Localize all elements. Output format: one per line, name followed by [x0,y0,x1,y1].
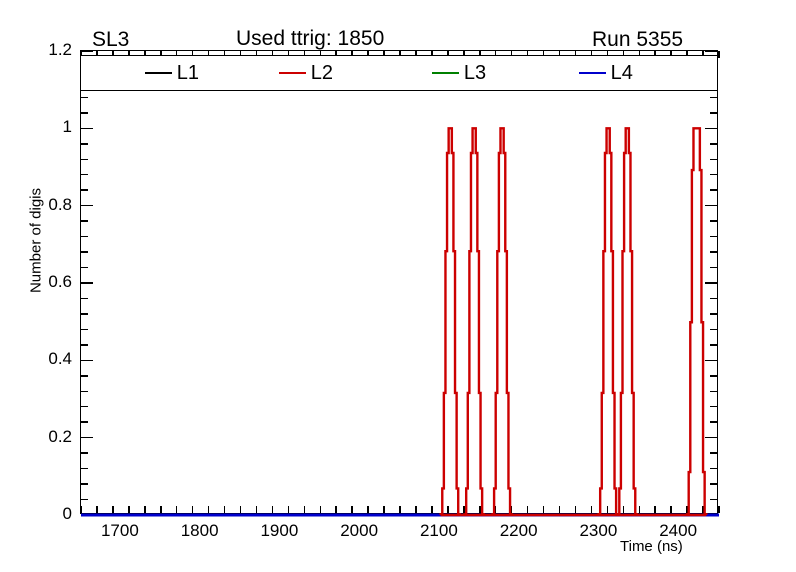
y-minor-tick [710,483,717,485]
x-minor-tick [559,506,561,513]
legend-label: L3 [464,62,486,85]
x-minor-tick [144,506,146,513]
y-major-tick [81,437,93,439]
y-tick-label: 1.2 [12,40,72,60]
legend-box: L1L2L3L4 [80,55,718,91]
x-minor-tick [272,506,274,513]
x-minor-tick [320,506,322,513]
series-l2-peak-4 [599,128,618,515]
y-minor-tick [81,375,88,377]
x-minor-tick [399,506,401,513]
y-minor-tick [81,189,88,191]
y-major-tick [81,50,93,52]
x-minor-tick [112,506,114,513]
y-minor-tick [710,421,717,423]
x-minor-tick [351,506,353,513]
y-minor-tick [710,143,717,145]
y-minor-tick [81,391,88,393]
x-minor-tick [654,506,656,513]
x-tick-label: 2100 [404,521,474,541]
x-minor-tick [527,506,529,513]
y-minor-tick [710,97,717,99]
y-major-tick [81,282,93,284]
x-minor-tick [607,506,609,513]
y-minor-tick [710,468,717,470]
x-minor-tick [495,506,497,513]
plot-frame [80,50,718,514]
x-tick-label: 1800 [165,521,235,541]
y-major-tick [705,360,717,362]
y-minor-tick [81,159,88,161]
series-l2-peak-5 [618,128,637,515]
y-major-tick [705,282,717,284]
x-tick-label: 1900 [244,521,314,541]
x-tick-label: 2200 [484,521,554,541]
x-minor-tick [511,506,513,513]
y-tick-label: 0.2 [12,427,72,447]
x-minor-tick [383,506,385,513]
y-minor-tick [710,251,717,253]
x-minor-tick [304,506,306,513]
x-minor-tick [288,506,290,513]
x-minor-tick [718,51,720,58]
legend-entry-l4[interactable]: L4 [579,62,633,85]
legend-swatch-l3-icon [432,72,459,75]
x-minor-tick [176,506,178,513]
y-minor-tick [710,391,717,393]
y-minor-tick [81,143,88,145]
legend-entry-l3[interactable]: L3 [432,62,486,85]
y-minor-tick [81,406,88,408]
y-minor-tick [710,329,717,331]
y-major-tick [705,205,717,207]
y-minor-tick [81,267,88,269]
y-minor-tick [81,251,88,253]
x-tick-label: 2000 [324,521,394,541]
y-minor-tick [81,329,88,331]
y-minor-tick [81,313,88,315]
series-l2-peak-2 [465,128,484,515]
y-tick-label: 0.4 [12,349,72,369]
x-minor-tick [575,506,577,513]
y-axis-title: Number of digis [28,161,45,321]
y-major-tick [705,514,717,516]
series-l2-peak-1 [441,128,460,515]
legend-swatch-l4-icon [579,72,606,75]
root-canvas: SL3 Used ttrig: 1850 Run 5355 Number of … [0,0,796,572]
y-minor-tick [81,344,88,346]
y-minor-tick [81,112,88,114]
legend-label: L1 [177,62,199,85]
legend-swatch-l2-icon [279,72,306,75]
x-tick-label: 2300 [563,521,633,541]
y-minor-tick [81,499,88,501]
y-minor-tick [710,499,717,501]
y-major-tick [705,50,717,52]
run-label: Run 5355 [592,29,683,50]
y-major-tick [81,128,93,130]
x-minor-tick [335,506,337,513]
y-minor-tick [710,159,717,161]
y-minor-tick [81,483,88,485]
y-minor-tick [710,267,717,269]
data-layer [81,51,719,515]
x-minor-tick [623,506,625,513]
y-major-tick [81,360,93,362]
legend-entry-l2[interactable]: L2 [279,62,333,85]
x-minor-tick [670,506,672,513]
x-minor-tick [702,506,704,513]
y-tick-label: 0.8 [12,195,72,215]
y-minor-tick [710,452,717,454]
y-tick-label: 1 [12,117,72,137]
y-minor-tick [81,220,88,222]
legend-entry-l1[interactable]: L1 [145,62,199,85]
x-tick-label: 2400 [643,521,713,541]
y-minor-tick [710,313,717,315]
y-minor-tick [710,236,717,238]
x-minor-tick [543,506,545,513]
x-minor-tick [447,506,449,513]
x-minor-tick [208,506,210,513]
x-minor-tick [160,506,162,513]
y-minor-tick [81,236,88,238]
y-major-tick [81,205,93,207]
y-major-tick [81,514,93,516]
x-minor-tick [718,506,720,513]
x-minor-tick [591,506,593,513]
x-tick-label: 1700 [85,521,155,541]
x-minor-tick [256,506,258,513]
x-minor-tick [463,506,465,513]
y-minor-tick [81,452,88,454]
y-major-tick [705,437,717,439]
x-minor-tick [96,506,98,513]
series-l2-peak-6 [687,128,706,515]
y-minor-tick [710,375,717,377]
y-minor-tick [81,97,88,99]
y-minor-tick [710,220,717,222]
y-minor-tick [710,406,717,408]
ttrig-label: Used ttrig: 1850 [236,28,384,49]
x-minor-tick [367,506,369,513]
x-minor-tick [240,506,242,513]
x-minor-tick [686,506,688,513]
x-minor-tick [192,506,194,513]
legend-label: L2 [311,62,333,85]
y-tick-label: 0 [12,504,72,524]
superlayer-label: SL3 [92,29,129,50]
y-minor-tick [710,112,717,114]
series-l2-peak-3 [493,128,512,515]
legend-swatch-l1-icon [145,72,172,75]
x-minor-tick [80,506,82,513]
x-minor-tick [479,506,481,513]
y-minor-tick [81,174,88,176]
legend-label: L4 [611,62,633,85]
x-minor-tick [128,506,130,513]
y-minor-tick [710,298,717,300]
y-minor-tick [710,344,717,346]
y-minor-tick [81,468,88,470]
y-tick-label: 0.6 [12,272,72,292]
x-minor-tick [639,506,641,513]
y-minor-tick [81,298,88,300]
y-minor-tick [81,421,88,423]
y-major-tick [705,128,717,130]
y-minor-tick [710,189,717,191]
x-minor-tick [431,506,433,513]
y-minor-tick [710,174,717,176]
x-minor-tick [415,506,417,513]
x-minor-tick [224,506,226,513]
